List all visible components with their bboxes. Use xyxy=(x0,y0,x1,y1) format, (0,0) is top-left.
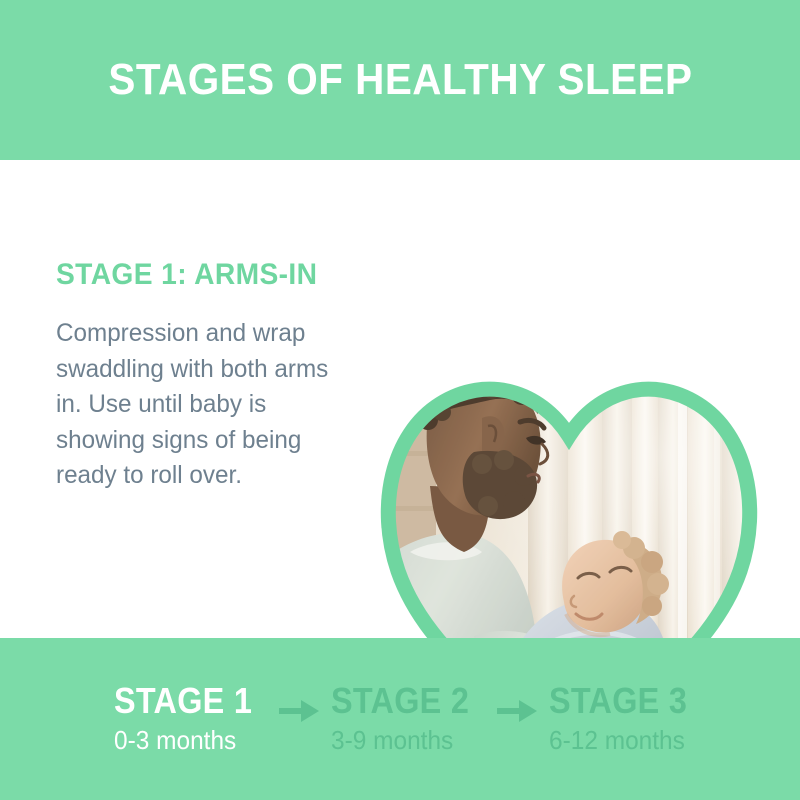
stage-progress-row: STAGE 1 0-3 months STAGE 2 3-9 months ST… xyxy=(0,638,800,800)
page-title: STAGES OF HEALTHY SLEEP xyxy=(108,58,692,102)
footer-band: STAGE 1 0-3 months STAGE 2 3-9 months ST… xyxy=(0,638,800,800)
stage-1-age: 0-3 months xyxy=(114,725,236,756)
main-content: STAGE 1: ARMS-IN Compression and wrap sw… xyxy=(0,160,800,638)
stage-3-age: 6-12 months xyxy=(549,725,685,756)
stage-item-1[interactable]: STAGE 1 0-3 months xyxy=(114,682,267,757)
stage-3-name: STAGE 3 xyxy=(549,682,687,720)
arrow-right-icon-2 xyxy=(485,698,549,724)
header-band: STAGES OF HEALTHY SLEEP xyxy=(0,0,800,160)
infographic-page: STAGES OF HEALTHY SLEEP STAGE 1: ARMS-IN… xyxy=(0,0,800,800)
stage-2-age: 3-9 months xyxy=(331,725,453,756)
stage-1-name: STAGE 1 xyxy=(114,682,252,720)
stage-item-2[interactable]: STAGE 2 3-9 months xyxy=(331,682,484,757)
stage-description-block: STAGE 1: ARMS-IN Compression and wrap sw… xyxy=(56,260,376,494)
stage-body-text: Compression and wrap swaddling with both… xyxy=(56,316,357,494)
stage-item-3[interactable]: STAGE 3 6-12 months xyxy=(549,682,702,757)
arrow-right-icon-1 xyxy=(267,698,331,724)
stage-2-name: STAGE 2 xyxy=(331,682,469,720)
stage-heading: STAGE 1: ARMS-IN xyxy=(56,260,357,290)
